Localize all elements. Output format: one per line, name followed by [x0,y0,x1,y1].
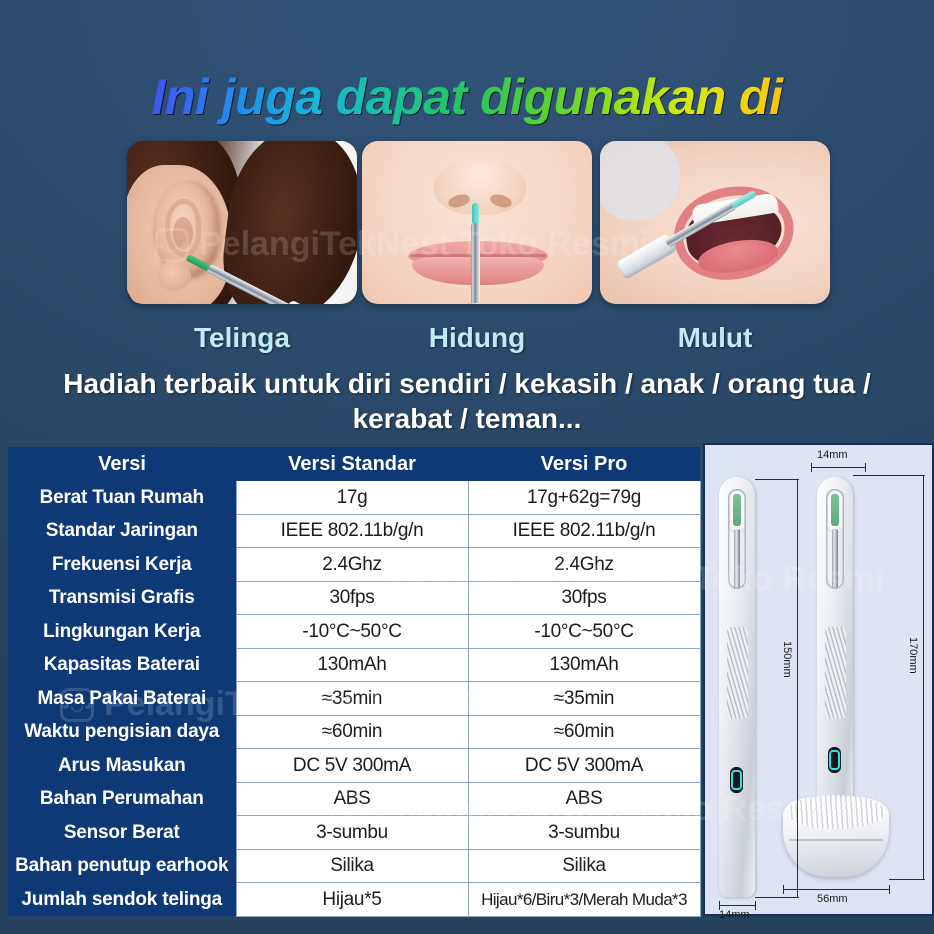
row-value-standard: 30fps [236,581,468,615]
table-row: Masa Pakai Baterai ≈35min ≈35min [8,682,700,716]
table-header-standard: Versi Standar [236,447,468,481]
row-value-standard: DC 5V 300mA [236,749,468,783]
row-value-pro: 30fps [468,581,700,615]
row-label: Jumlah sendok telinga [8,883,236,917]
table-row: Frekuensi Kerja 2.4Ghz 2.4Ghz [8,548,700,582]
row-value-pro: Silika [468,849,700,883]
table-row: Transmisi Grafis 30fps 30fps [8,581,700,615]
row-label: Berat Tuan Rumah [8,481,236,515]
usage-label-nose: Hidung [362,322,592,354]
row-value-standard: -10°C~50°C [236,615,468,649]
table-row: Berat Tuan Rumah 17g 17g+62g=79g [8,481,700,515]
table-row: Waktu pengisian daya ≈60min ≈60min [8,715,700,749]
infographic-page: Ini juga dapat digunakan di [0,0,934,934]
row-label: Bahan penutup earhook [8,849,236,883]
row-label: Arus Masukan [8,749,236,783]
row-value-pro: ≈60min [468,715,700,749]
table-row: Arus Masukan DC 5V 300mA DC 5V 300mA [8,749,700,783]
dim-label-standard-width: 14mm [719,909,750,921]
row-value-standard: Hijau*5 [236,883,468,917]
dim-line [811,467,865,468]
row-label: Bahan Perumahan [8,782,236,816]
table-header-version: Versi [8,447,236,481]
dim-line [923,475,924,879]
table-row: Kapasitas Baterai 130mAh 130mAh [8,648,700,682]
usage-label-group: Telinga Hidung Mulut [0,322,934,364]
row-value-standard: 3-sumbu [236,816,468,850]
row-value-pro: 17g+62g=79g [468,481,700,515]
table-row: Bahan Perumahan ABS ABS [8,782,700,816]
gift-tagline: Hadiah terbaik untuk diri sendiri / keka… [0,366,934,437]
power-button-icon [730,767,743,793]
row-value-pro: 2.4Ghz [468,548,700,582]
table-row: Lingkungan Kerja -10°C~50°C -10°C~50°C [8,615,700,649]
mouth-photo [600,141,830,304]
row-value-standard: ≈35min [236,682,468,716]
page-title: Ini juga dapat digunakan di [0,68,934,126]
row-value-pro: Hijau*6/Biru*3/Merah Muda*3 [468,883,700,917]
table-header-row: Versi Versi Standar Versi Pro [8,447,700,481]
spec-table: Versi Versi Standar Versi Pro Berat Tuan… [8,447,701,917]
row-label: Sensor Berat [8,816,236,850]
dim-label-pro-height: 170mm [907,637,919,674]
ear-photo [127,141,357,304]
usage-label-mouth: Mulut [600,322,830,354]
row-label: Lingkungan Kerja [8,615,236,649]
nose-photo [362,141,592,304]
table-row: Sensor Berat 3-sumbu 3-sumbu [8,816,700,850]
table-row: Jumlah sendok telinga Hijau*5 Hijau*6/Bi… [8,883,700,917]
row-value-standard: 2.4Ghz [236,548,468,582]
row-value-pro: 3-sumbu [468,816,700,850]
row-value-standard: ABS [236,782,468,816]
row-value-pro: 130mAh [468,648,700,682]
row-label: Kapasitas Baterai [8,648,236,682]
table-row: Standar Jaringan IEEE 802.11b/g/n IEEE 8… [8,514,700,548]
row-value-pro: DC 5V 300mA [468,749,700,783]
device-dimension-panel: 14mm 150mm 14mm 170mm 56mm [703,443,934,916]
row-value-pro: ≈35min [468,682,700,716]
usage-label-ear: Telinga [127,322,357,354]
row-label: Transmisi Grafis [8,581,236,615]
row-label: Waktu pengisian daya [8,715,236,749]
row-value-standard: 130mAh [236,648,468,682]
row-value-standard: Silika [236,849,468,883]
row-value-standard: 17g [236,481,468,515]
row-value-pro: -10°C~50°C [468,615,700,649]
dim-label-standard-height: 150mm [781,641,793,678]
row-value-standard: IEEE 802.11b/g/n [236,514,468,548]
usage-photo-group [0,141,934,304]
row-value-pro: IEEE 802.11b/g/n [468,514,700,548]
row-label: Standar Jaringan [8,514,236,548]
row-value-pro: ABS [468,782,700,816]
table-header-pro: Versi Pro [468,447,700,481]
dim-label-pro-width: 14mm [817,449,848,461]
dim-line [797,479,798,897]
power-button-icon [828,747,841,773]
row-label: Masa Pakai Baterai [8,682,236,716]
table-row: Bahan penutup earhook Silika Silika [8,849,700,883]
row-label: Frekuensi Kerja [8,548,236,582]
row-value-standard: ≈60min [236,715,468,749]
dim-label-base-width: 56mm [817,893,848,905]
